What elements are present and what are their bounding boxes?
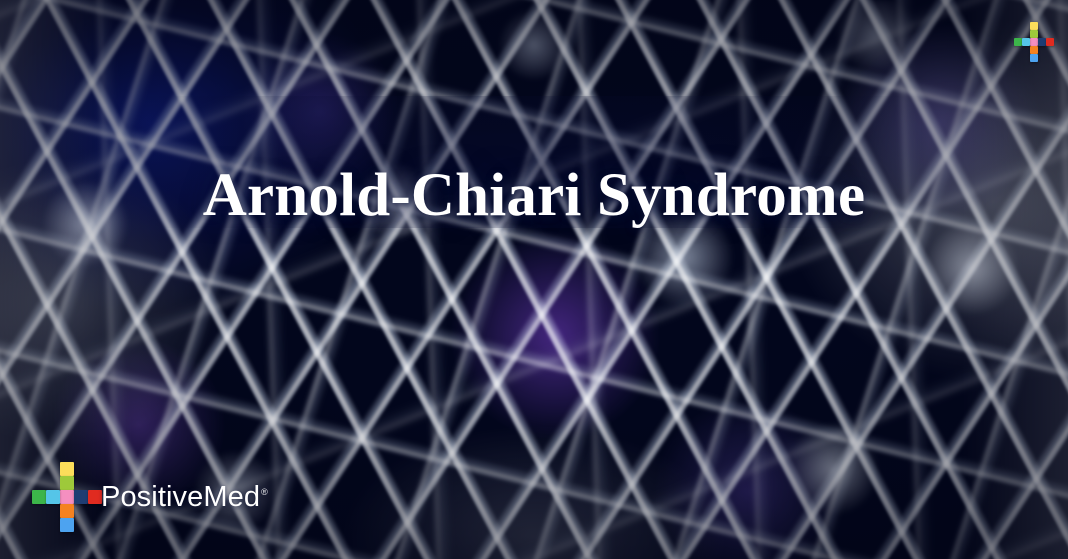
corner-logo-tile-navy	[1038, 38, 1046, 46]
logo-tile-green	[32, 490, 46, 504]
corner-logo-tile-orange	[1030, 46, 1038, 54]
logo-tile-yellow-green	[60, 476, 74, 490]
article-header-banner: Arnold-Chiari Syndrome PositiveMed®	[0, 0, 1068, 559]
positivemed-cross-logo[interactable]	[32, 462, 88, 532]
registered-trademark-icon: ®	[261, 487, 268, 497]
logo-tile-pink-center	[60, 490, 74, 504]
corner-logo-tile-red	[1046, 38, 1054, 46]
page-title: Arnold-Chiari Syndrome	[0, 162, 1068, 230]
brand-lockup[interactable]: PositiveMed®	[32, 462, 268, 532]
corner-logo-tile-yellow	[1030, 22, 1038, 30]
corner-logo-tile-green	[1014, 38, 1022, 46]
logo-tile-light-blue	[46, 490, 60, 504]
brand-wordmark-text: PositiveMed	[101, 481, 260, 513]
positivemed-cross-logo-small[interactable]	[1014, 22, 1056, 74]
logo-tile-red	[88, 490, 102, 504]
corner-logo-tile-pink-center	[1030, 38, 1038, 46]
brand-wordmark[interactable]: PositiveMed®	[101, 481, 268, 514]
corner-logo-tile-light-blue	[1022, 38, 1030, 46]
corner-logo-tile-yellow-green	[1030, 30, 1038, 38]
corner-logo-tile-blue	[1030, 54, 1038, 62]
logo-tile-yellow	[60, 462, 74, 476]
logo-tile-blue	[60, 518, 74, 532]
logo-tile-orange	[60, 504, 74, 518]
logo-tile-navy	[74, 490, 88, 504]
